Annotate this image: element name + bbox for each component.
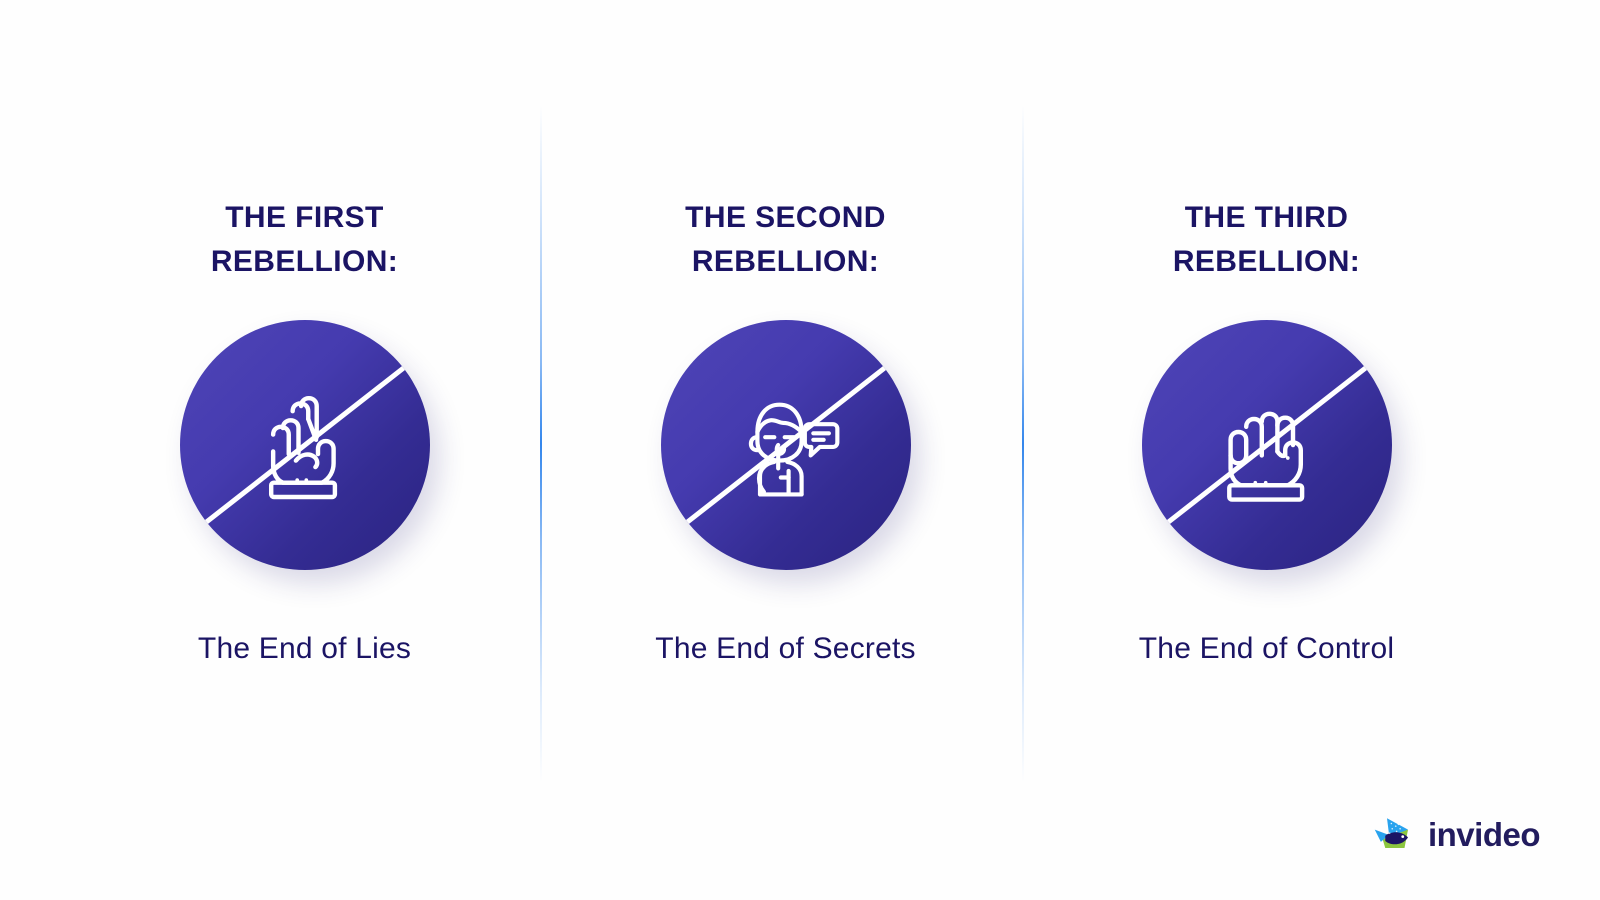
icon-badge-second <box>661 320 911 570</box>
slash-overlay-first <box>180 341 430 548</box>
column-third-rebellion: THE THIRD REBELLION: <box>1026 0 1507 900</box>
columns-container: THE FIRST REBELLION: <box>0 0 1600 900</box>
icon-circle-third <box>1142 320 1392 570</box>
icon-badge-first <box>180 320 430 570</box>
caption-second-rebellion: The End of Secrets <box>655 632 915 666</box>
invideo-logo: invideo <box>1373 813 1540 855</box>
heading-third-rebellion: THE THIRD REBELLION: <box>1117 196 1417 284</box>
slash-overlay-second <box>661 341 911 548</box>
caption-first-rebellion: The End of Lies <box>198 632 411 666</box>
caption-third-rebellion: The End of Control <box>1139 632 1394 666</box>
icon-badge-third <box>1142 320 1392 570</box>
invideo-logo-mark <box>1373 813 1415 855</box>
column-second-rebellion: THE SECOND REBELLION: <box>545 0 1026 900</box>
slide-canvas: THE FIRST REBELLION: <box>0 0 1600 900</box>
heading-first-rebellion: THE FIRST REBELLION: <box>155 196 455 284</box>
slash-overlay-third <box>1142 341 1392 548</box>
column-first-rebellion: THE FIRST REBELLION: <box>64 0 545 900</box>
icon-circle-second <box>661 320 911 570</box>
invideo-logo-text: invideo <box>1428 818 1540 851</box>
heading-second-rebellion: THE SECOND REBELLION: <box>636 196 936 284</box>
icon-circle-first <box>180 320 430 570</box>
